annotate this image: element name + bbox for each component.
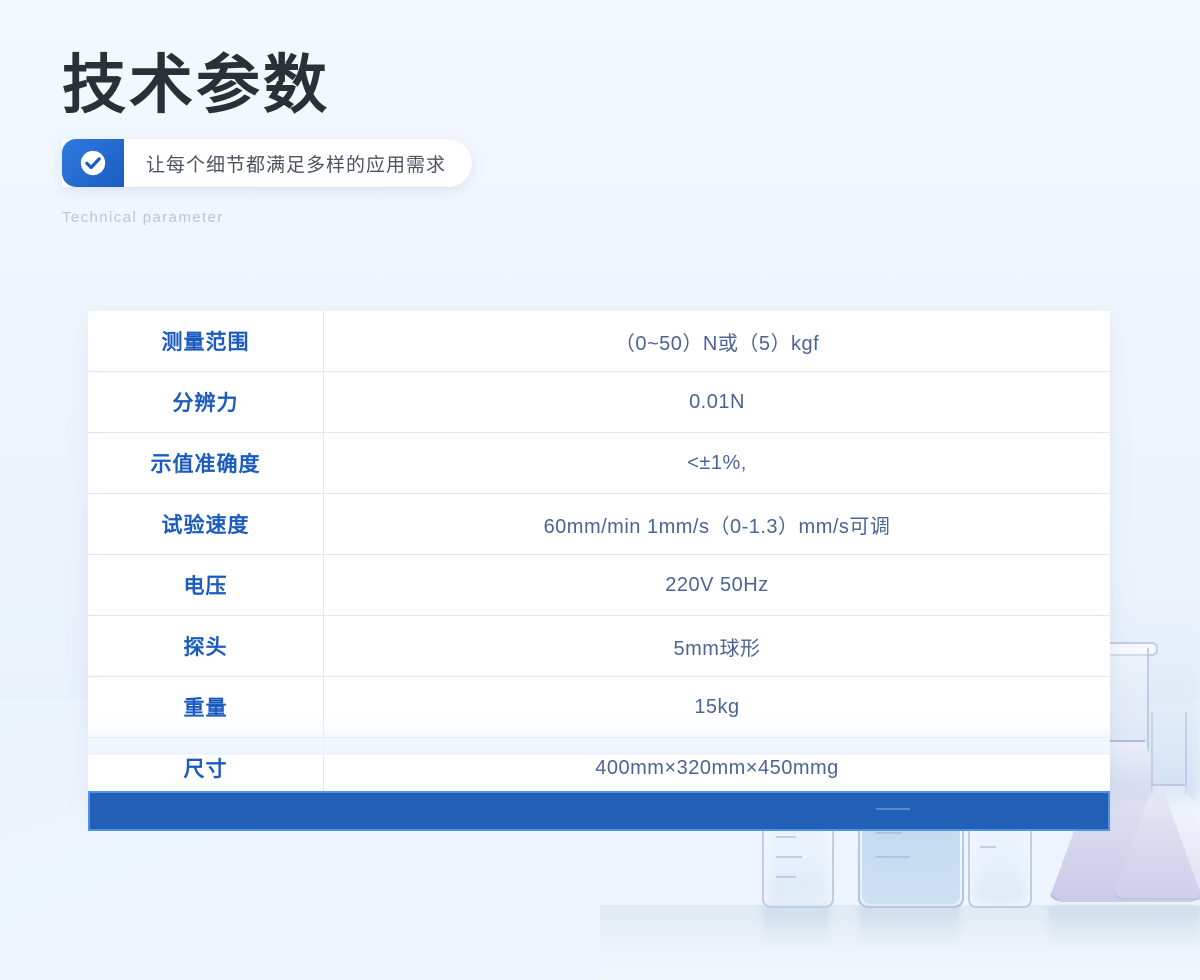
spec-value: （0~50）N或（5）kgf bbox=[324, 311, 1110, 371]
spec-value: <±1%, bbox=[324, 433, 1110, 493]
spec-label: 示值准确度 bbox=[88, 433, 324, 493]
spec-value: 220V 50Hz bbox=[324, 555, 1110, 615]
spec-label: 尺寸 bbox=[88, 738, 324, 798]
spec-label: 试验速度 bbox=[88, 494, 324, 554]
table-row: 电压 220V 50Hz bbox=[88, 555, 1110, 616]
spec-value: 15kg bbox=[324, 677, 1110, 737]
erlenmeyer-flask-icon bbox=[1112, 710, 1200, 900]
page-header: 技术参数 让每个细节都满足多样的应用需求 Technical parameter bbox=[62, 52, 702, 226]
spec-value: 60mm/min 1mm/s（0-1.3）mm/s可调 bbox=[324, 494, 1110, 554]
spec-label: 分辨力 bbox=[88, 372, 324, 432]
table-row: 示值准确度 <±1%, bbox=[88, 433, 1110, 494]
spec-value: 0.01N bbox=[324, 372, 1110, 432]
glass-reflection bbox=[858, 906, 960, 946]
table-row: 尺寸 400mm×320mm×450mmg bbox=[88, 738, 1110, 799]
subtitle-english: Technical parameter bbox=[62, 209, 702, 226]
backdrop-bench-surface bbox=[600, 905, 1200, 980]
tagline-text: 让每个细节都满足多样的应用需求 bbox=[124, 150, 472, 177]
table-row: 测量范围 （0~50）N或（5）kgf bbox=[88, 311, 1110, 372]
glass-reflection bbox=[1048, 906, 1200, 946]
table-row: 试验速度 60mm/min 1mm/s（0-1.3）mm/s可调 bbox=[88, 494, 1110, 555]
table-row: 重量 15kg bbox=[88, 677, 1110, 738]
spec-table: 测量范围 （0~50）N或（5）kgf 分辨力 0.01N 示值准确度 <±1%… bbox=[88, 311, 1110, 799]
table-row: 探头 5mm球形 bbox=[88, 616, 1110, 677]
spec-label: 测量范围 bbox=[88, 311, 324, 371]
page-root: 技术参数 让每个细节都满足多样的应用需求 Technical parameter… bbox=[0, 0, 1200, 980]
spec-value: 5mm球形 bbox=[324, 616, 1110, 676]
glass-reflection bbox=[762, 906, 830, 946]
table-row: 分辨力 0.01N bbox=[88, 372, 1110, 433]
spec-label: 重量 bbox=[88, 677, 324, 737]
spec-value: 400mm×320mm×450mmg bbox=[324, 738, 1110, 798]
tagline-pill: 让每个细节都满足多样的应用需求 bbox=[62, 139, 472, 187]
table-footer-bar bbox=[88, 791, 1110, 831]
check-circle-icon bbox=[62, 139, 124, 187]
spec-label: 电压 bbox=[88, 555, 324, 615]
page-title: 技术参数 bbox=[62, 52, 702, 121]
spec-label: 探头 bbox=[88, 616, 324, 676]
